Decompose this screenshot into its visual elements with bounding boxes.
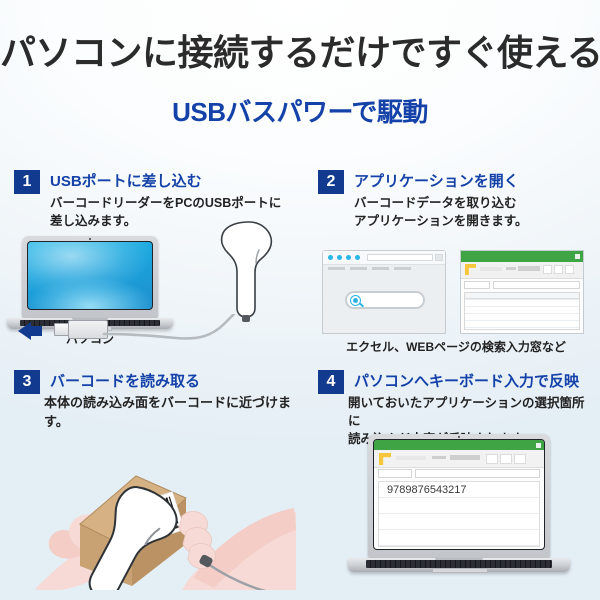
step-3: 3 バーコードを読み取る 本体の読み込み面をバーコードに近づけます。 bbox=[14, 368, 306, 594]
toolbar-placeholder bbox=[396, 456, 426, 460]
step-1-number-badge: 1 bbox=[14, 170, 40, 194]
toolbar-placeholder bbox=[450, 455, 480, 460]
spreadsheet-window-mockup bbox=[460, 250, 584, 334]
step-2-number-badge: 2 bbox=[318, 170, 344, 194]
step-2: 2 アプリケーションを開く バーコードデータを取り込む アプリケーションを開きま… bbox=[318, 168, 594, 364]
laptop-lid bbox=[22, 236, 158, 318]
spreadsheet-formula-bar bbox=[378, 469, 540, 478]
toolbar-button[interactable] bbox=[486, 454, 498, 464]
app-logo-icon bbox=[465, 264, 476, 275]
toolbar-button[interactable] bbox=[543, 265, 552, 274]
page-subtitle: USBバスパワーで駆動 bbox=[0, 92, 600, 129]
scanned-value-cell[interactable]: 9789876543217 bbox=[387, 484, 467, 496]
step-3-heading: バーコードを読み取る bbox=[50, 370, 200, 391]
browser-bookmark-bar bbox=[328, 267, 414, 270]
formula-input[interactable] bbox=[493, 281, 580, 289]
infographic-page: パソコンに接続するだけですぐ使える USBバスパワーで駆動 1 USBポートに差… bbox=[0, 0, 600, 600]
step-2-body: バーコードデータを取り込む アプリケーションを開きます。 bbox=[354, 194, 594, 230]
toolbar-placeholder bbox=[480, 267, 502, 271]
step-4-heading: パソコンへキーボード入力で反映 bbox=[354, 370, 579, 391]
step-4-number-badge: 4 bbox=[318, 370, 344, 394]
page-title: パソコンに接続するだけですぐ使える bbox=[0, 24, 600, 76]
spreadsheet-column-headers bbox=[465, 293, 579, 299]
laptop-lid: 9789876543217 bbox=[368, 434, 550, 558]
toolbar-button[interactable] bbox=[500, 454, 512, 464]
step-1: 1 USBポートに差し込む バーコードリーダーをPCのUSBポートに 差し込みま… bbox=[14, 168, 306, 364]
direction-arrow-tail bbox=[30, 326, 42, 336]
laptop-base bbox=[348, 558, 570, 572]
browser-toolbar bbox=[323, 251, 445, 265]
browser-window-mockup bbox=[322, 250, 446, 334]
laptop-trackpad bbox=[432, 568, 487, 573]
toolbar-placeholder bbox=[518, 266, 540, 271]
formula-input[interactable] bbox=[415, 469, 540, 478]
spreadsheet-titlebar bbox=[461, 251, 583, 262]
search-input[interactable] bbox=[345, 291, 425, 309]
toolbar-button[interactable] bbox=[565, 265, 574, 274]
spreadsheet-formula-bar bbox=[464, 281, 580, 289]
step-2-caption: エクセル、WEBページの検索入力窓など bbox=[318, 338, 594, 355]
name-box[interactable] bbox=[464, 281, 490, 289]
app-logo-icon bbox=[379, 453, 391, 465]
laptop-screen: 9789876543217 bbox=[373, 439, 545, 550]
back-arrow-icon[interactable] bbox=[328, 255, 333, 260]
laptop-result-illustration: 9789876543217 bbox=[368, 434, 550, 558]
step-2-heading: アプリケーションを開く bbox=[354, 170, 519, 191]
scanner-cable bbox=[102, 314, 240, 348]
browser-address-bar[interactable] bbox=[367, 254, 433, 261]
toolbar-button[interactable] bbox=[514, 454, 526, 464]
barcode-scanner-illustration bbox=[219, 220, 275, 324]
desktop-wallpaper bbox=[28, 242, 152, 309]
laptop-illustration bbox=[22, 236, 158, 318]
step-3-number-badge: 3 bbox=[14, 370, 40, 394]
search-icon-handle bbox=[359, 303, 364, 308]
toolbar-button[interactable] bbox=[554, 265, 563, 274]
forward-arrow-icon[interactable] bbox=[337, 255, 342, 260]
refresh-icon[interactable] bbox=[346, 255, 351, 260]
spreadsheet-toolbar bbox=[461, 262, 583, 279]
spreadsheet-grid: 9789876543217 bbox=[378, 481, 540, 547]
header: パソコンに接続するだけですぐ使える USBバスパワーで駆動 bbox=[0, 0, 600, 150]
spreadsheet-titlebar bbox=[374, 440, 544, 450]
close-icon[interactable] bbox=[575, 254, 580, 259]
laptop-camera-icon bbox=[458, 436, 460, 438]
laptop-screen bbox=[27, 241, 153, 310]
laptop-camera-icon bbox=[89, 238, 91, 240]
step-4: 4 パソコンへキーボード入力で反映 開いておいたアプリケーションの選択箇所に 読… bbox=[318, 368, 594, 594]
usb-connector-icon bbox=[54, 320, 108, 339]
browser-menu-icon[interactable] bbox=[435, 254, 443, 261]
step-1-heading: USBポートに差し込む bbox=[50, 170, 202, 191]
toolbar-placeholder bbox=[432, 456, 446, 459]
spreadsheet-app: 9789876543217 bbox=[374, 440, 544, 549]
spreadsheet-toolbar bbox=[374, 450, 544, 468]
toolbar-placeholder bbox=[506, 267, 516, 270]
spreadsheet-grid bbox=[464, 292, 580, 330]
scanning-hands-illustration bbox=[36, 420, 296, 590]
close-icon[interactable] bbox=[536, 443, 541, 448]
laptop-keyboard bbox=[366, 560, 553, 568]
home-icon[interactable] bbox=[355, 255, 360, 260]
name-box[interactable] bbox=[378, 469, 412, 478]
